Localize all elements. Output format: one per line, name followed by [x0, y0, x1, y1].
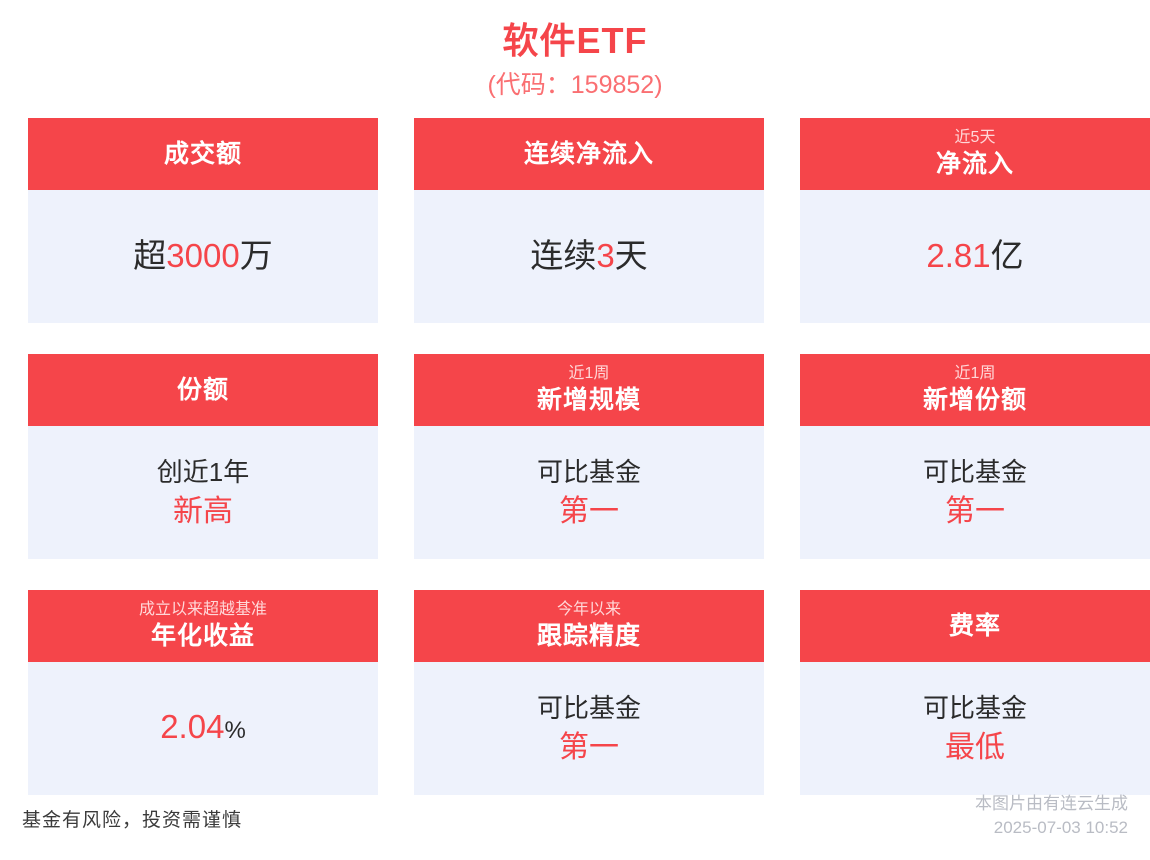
card-value-line-1: 可比基金 [923, 453, 1027, 491]
card-header-main: 新增份额 [923, 384, 1027, 416]
metric-card: 近5天 净流入 2.81亿 [800, 118, 1150, 323]
generator-credit: 本图片由有连云生成 [975, 789, 1128, 814]
card-header-main: 年化收益 [151, 620, 255, 652]
card-body: 可比基金 第一 [800, 426, 1150, 559]
card-value-line-2: 最低 [945, 727, 1005, 769]
card-value-line-2: 新高 [173, 491, 233, 533]
card-value-line-2: 第一 [559, 491, 619, 533]
page-title: 软件ETF [0, 18, 1150, 64]
card-value-line-2: 第一 [945, 491, 1005, 533]
card-header-main: 份额 [177, 374, 229, 406]
metric-card: 费率 可比基金 最低 [800, 590, 1150, 795]
card-header: 近1周 新增份额 [800, 354, 1150, 426]
card-body: 创近1年 新高 [28, 426, 378, 559]
metric-card: 份额 创近1年 新高 [28, 354, 378, 559]
card-header-main: 成交额 [164, 138, 242, 170]
card-value-line-1: 创近1年 [157, 453, 249, 491]
card-value-line: 2.81亿 [926, 237, 1023, 277]
infographic-page: 软件ETF (代码：159852) 成交额 超3000万 连续净流入 [0, 0, 1150, 860]
card-header: 成立以来超越基准 年化收益 [28, 590, 378, 662]
card-header-sub: 成立以来超越基准 [139, 600, 267, 620]
card-header-sub: 今年以来 [557, 600, 621, 620]
card-header: 近1周 新增规模 [414, 354, 764, 426]
metric-card: 近1周 新增份额 可比基金 第一 [800, 354, 1150, 559]
card-body: 连续3天 [414, 190, 764, 323]
card-body: 可比基金 第一 [414, 426, 764, 559]
metric-card: 连续净流入 连续3天 [414, 118, 764, 323]
value-suffix: % [224, 717, 245, 744]
card-header-main: 连续净流入 [524, 138, 654, 170]
value-number: 3000 [166, 237, 239, 274]
card-header-sub: 近5天 [955, 128, 996, 148]
value-number: 3 [596, 237, 614, 274]
card-value-line-2: 第一 [559, 727, 619, 769]
metric-card: 今年以来 跟踪精度 可比基金 第一 [414, 590, 764, 795]
card-header: 连续净流入 [414, 118, 764, 190]
card-value-line-1: 可比基金 [923, 689, 1027, 727]
fund-code: (代码：159852) [0, 66, 1150, 104]
card-header-main: 跟踪精度 [537, 620, 641, 652]
metric-card: 成立以来超越基准 年化收益 2.04% [28, 590, 378, 795]
generated-timestamp: 2025-07-03 10:52 [994, 818, 1128, 838]
card-value-line: 连续3天 [530, 237, 647, 277]
card-value-line: 2.04% [160, 708, 246, 750]
card-header-sub: 近1周 [955, 364, 996, 384]
metric-card: 近1周 新增规模 可比基金 第一 [414, 354, 764, 559]
card-header-main: 新增规模 [537, 384, 641, 416]
card-body: 超3000万 [28, 190, 378, 323]
metric-card-grid: 成交额 超3000万 连续净流入 连续3天 近5天 [14, 118, 1136, 795]
card-header: 今年以来 跟踪精度 [414, 590, 764, 662]
card-header: 成交额 [28, 118, 378, 190]
value-suffix: 天 [615, 237, 648, 274]
value-number: 2.04 [160, 708, 224, 745]
footer: 基金有风险，投资需谨慎 本图片由有连云生成 2025-07-03 10:52 [0, 774, 1150, 860]
card-header-main: 费率 [949, 610, 1001, 642]
card-header-sub: 近1周 [569, 364, 610, 384]
value-number: 2.81 [926, 237, 990, 274]
header: 软件ETF (代码：159852) [0, 0, 1150, 104]
metric-card: 成交额 超3000万 [28, 118, 378, 323]
value-suffix: 万 [240, 237, 273, 274]
card-value-line: 超3000万 [133, 237, 272, 277]
risk-disclaimer: 基金有风险，投资需谨慎 [22, 805, 242, 832]
card-header: 份额 [28, 354, 378, 426]
card-value-line-1: 可比基金 [537, 453, 641, 491]
card-header-main: 净流入 [936, 148, 1014, 180]
card-body: 2.81亿 [800, 190, 1150, 323]
card-header: 近5天 净流入 [800, 118, 1150, 190]
value-prefix: 连续 [530, 237, 596, 274]
value-prefix: 超 [133, 237, 166, 274]
value-suffix: 亿 [991, 237, 1024, 274]
card-header: 费率 [800, 590, 1150, 662]
card-value-line-1: 可比基金 [537, 689, 641, 727]
